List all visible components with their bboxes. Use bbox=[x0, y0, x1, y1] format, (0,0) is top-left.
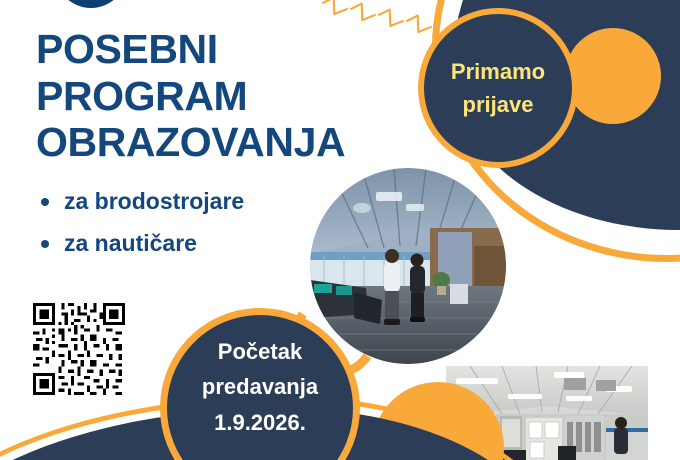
badge-bottom-line-2: predavanja bbox=[202, 369, 318, 405]
badge-top-line-2: prijave bbox=[451, 88, 545, 121]
badge-bottom-line-3: 1.9.2026. bbox=[202, 405, 318, 441]
logo-fragment-decoration bbox=[56, 0, 126, 8]
orange-circle-top-right bbox=[565, 28, 661, 124]
program-list: za brodostrojare za nautičare bbox=[36, 190, 336, 274]
headline-line-3: OBRAZOVANJA bbox=[36, 119, 416, 166]
headline-line-1: POSEBNI bbox=[36, 26, 416, 73]
status-badge-accepting-applications: Primamo prijave bbox=[418, 8, 578, 168]
badge-bottom-line-1: Početak bbox=[202, 334, 318, 370]
list-item-label: za brodostrojare bbox=[64, 188, 244, 214]
badge-top-line-1: Primamo bbox=[451, 55, 545, 88]
headline-line-2: PROGRAM bbox=[36, 73, 416, 120]
page-title: POSEBNI PROGRAM OBRAZOVANJA bbox=[36, 26, 416, 166]
list-item: za nautičare bbox=[36, 232, 336, 255]
qr-code[interactable] bbox=[33, 303, 125, 395]
list-item: za brodostrojare bbox=[36, 190, 336, 213]
list-item-label: za nautičare bbox=[64, 230, 197, 256]
poster-canvas: POSEBNI PROGRAM OBRAZOVANJA za brodostro… bbox=[0, 0, 680, 460]
